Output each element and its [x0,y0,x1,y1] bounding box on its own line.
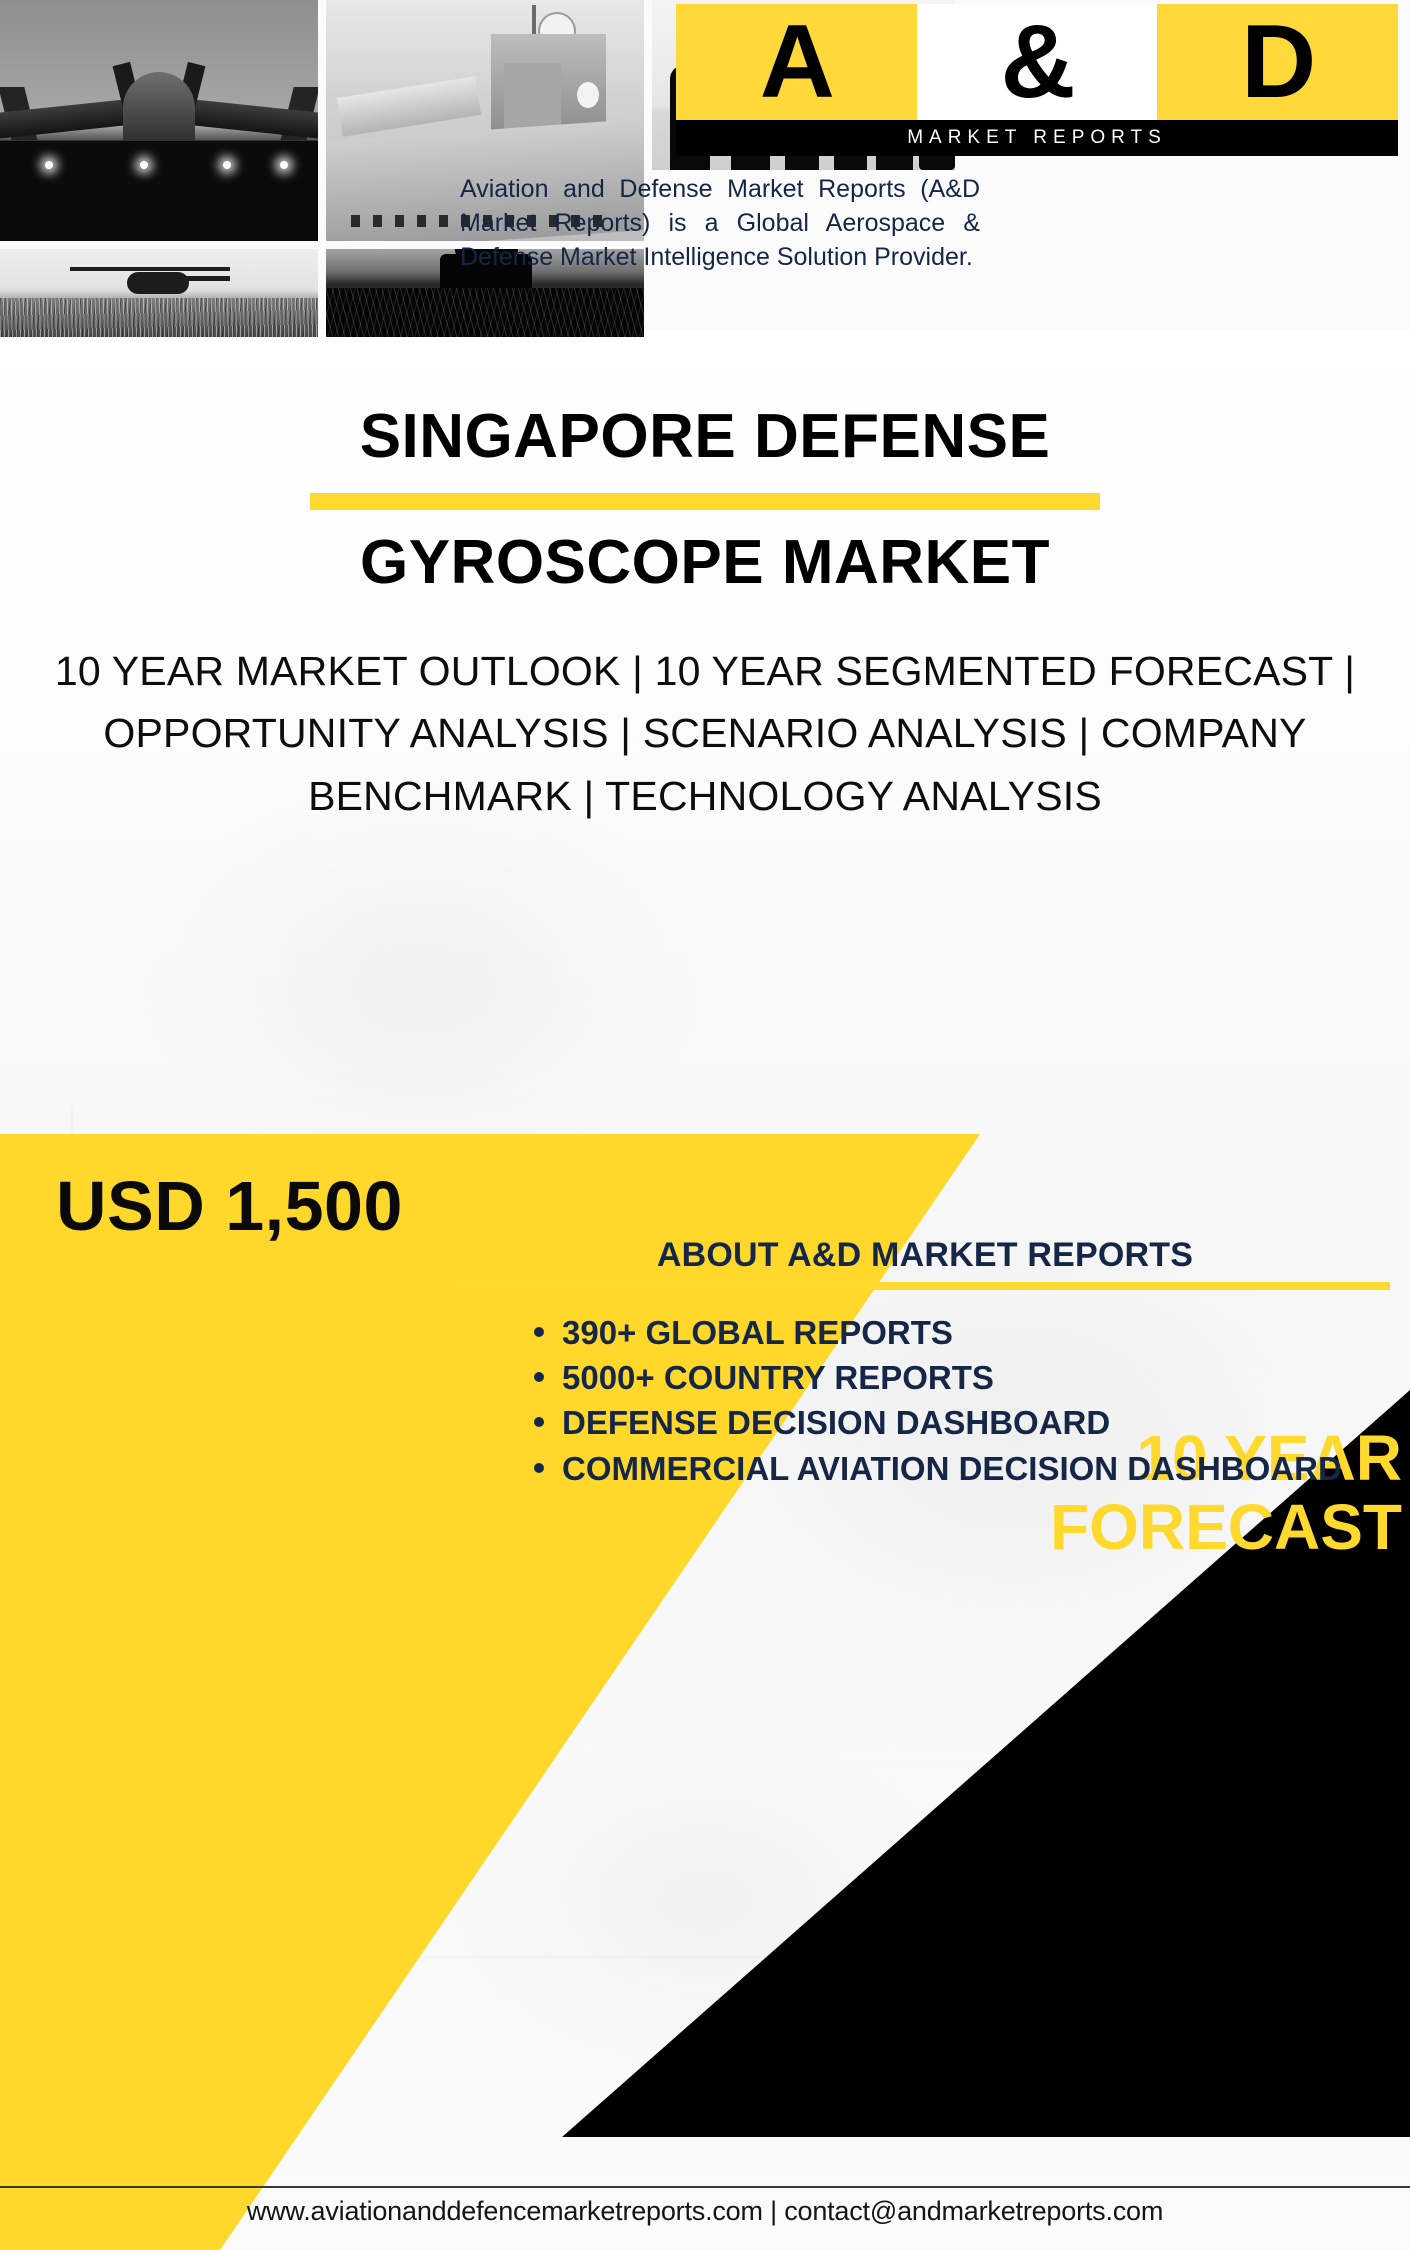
footer-contact[interactable]: www.aviationanddefencemarketreports.com … [0,2196,1410,2227]
about-bullet-defense-dashboard: DEFENSE DECISION DASHBOARD [532,1402,1390,1444]
logo-tagline: MARKET REPORTS [907,127,1167,149]
photo-fighter-jet-on-carrier-deck [0,0,318,241]
company-description: Aviation and Defense Market Reports (A&D… [460,172,980,274]
logo-cell-d: D [1157,4,1398,120]
brand-logo: A & D MARKET REPORTS [676,4,1398,156]
price-value: USD 1,500 [56,1166,403,1246]
logo-cell-ampersand: & [917,4,1158,120]
about-divider-rule [460,1282,1390,1290]
poster-page: A & D MARKET REPORTS Aviation and Defens… [0,0,1410,2250]
about-bullet-list: 390+ GLOBAL REPORTS 5000+ COUNTRY REPORT… [460,1312,1390,1490]
logo-cell-a: A [676,4,917,120]
logo-letter-a: A [760,10,833,114]
report-scope-subtitle: 10 YEAR MARKET OUTLOOK | 10 YEAR SEGMENT… [40,640,1370,827]
report-title: SINGAPORE DEFENSE GYROSCOPE MARKET [0,404,1410,597]
logo-letter-d: D [1241,10,1314,114]
about-bullet-commercial-aviation-dashboard: COMMERCIAL AVIATION DECISION DASHBOARD [532,1448,1390,1490]
report-title-line-2: GYROSCOPE MARKET [0,530,1410,597]
logo-ampersand: & [1000,10,1073,114]
title-divider-rule [310,493,1100,510]
forecast-badge-line-2: FORECAST [882,1493,1402,1562]
about-bullet-global-reports: 390+ GLOBAL REPORTS [532,1312,1390,1354]
logo-tagline-bar: MARKET REPORTS [676,120,1398,156]
about-heading: ABOUT A&D MARKET REPORTS [460,1236,1390,1275]
about-bullet-country-reports: 5000+ COUNTRY REPORTS [532,1357,1390,1399]
photo-military-helicopter [0,249,318,337]
report-title-line-1: SINGAPORE DEFENSE [0,404,1410,471]
footer-divider [0,2186,1410,2188]
about-section: ABOUT A&D MARKET REPORTS 390+ GLOBAL REP… [460,1236,1390,1493]
